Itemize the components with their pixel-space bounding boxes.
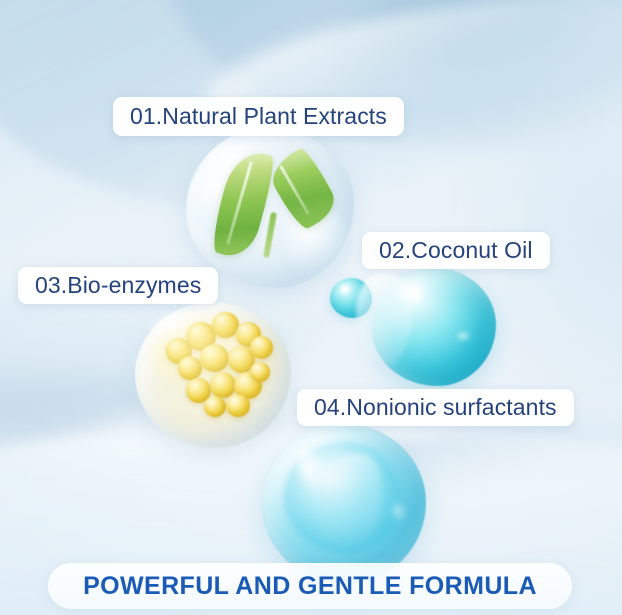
ingredient-label-01: 01.Natural Plant Extracts: [113, 97, 404, 136]
fabric-drape-top-right: [144, 0, 622, 166]
coconut-oil-droplet-large: [372, 268, 496, 386]
clear-sphere-highlight: [200, 138, 253, 184]
coconut-droplet-clear-facet: [356, 272, 412, 364]
enzyme-bead: [250, 362, 270, 382]
blue-sphere-gel-core: [284, 442, 402, 554]
enzyme-bead: [250, 336, 273, 359]
blue-sphere-swirl: [307, 446, 392, 554]
clear-sphere-lobe-right: [278, 206, 352, 280]
enzyme-bead: [212, 312, 239, 338]
coconut-droplet-sparkle: [455, 330, 471, 342]
ingredient-label-04: 04.Nonionic surfactants: [297, 389, 574, 426]
tagline-banner: POWERFUL AND GENTLE FORMULA: [48, 563, 572, 609]
blue-surfactant-sphere: [262, 424, 426, 584]
coconut-droplet-highlight: [389, 273, 431, 309]
coconut-oil-droplet-small: [330, 278, 372, 318]
coconut-droplet-small-highlight: [337, 282, 354, 296]
green-leaf-right-icon: [264, 145, 341, 233]
ingredient-label-02: 02.Coconut Oil: [362, 232, 550, 269]
leaf-vein-left: [226, 161, 253, 244]
leaf-vein-right: [279, 165, 310, 215]
enzyme-bead: [226, 394, 250, 417]
ingredient-label-03: 03.Bio-enzymes: [18, 267, 218, 304]
enzyme-bead: [178, 356, 202, 380]
blue-sphere-sparkle: [390, 500, 406, 522]
green-leaf-left-icon: [207, 146, 279, 262]
tagline-text: POWERFUL AND GENTLE FORMULA: [83, 572, 537, 601]
enzyme-bead: [204, 396, 226, 417]
leaf-stem: [263, 212, 277, 258]
clear-water-sphere: [186, 128, 354, 288]
fabric-wave-left-lower: [0, 282, 278, 464]
product-ingredient-poster: 01.Natural Plant Extracts 02.Coconut Oil…: [0, 0, 622, 615]
enzyme-bead: [200, 344, 229, 372]
vignette-overlay: [0, 0, 622, 615]
fabric-glow-right: [430, 120, 622, 420]
clear-sphere-lobe-left: [190, 160, 260, 238]
blue-sphere-highlight: [290, 445, 328, 494]
